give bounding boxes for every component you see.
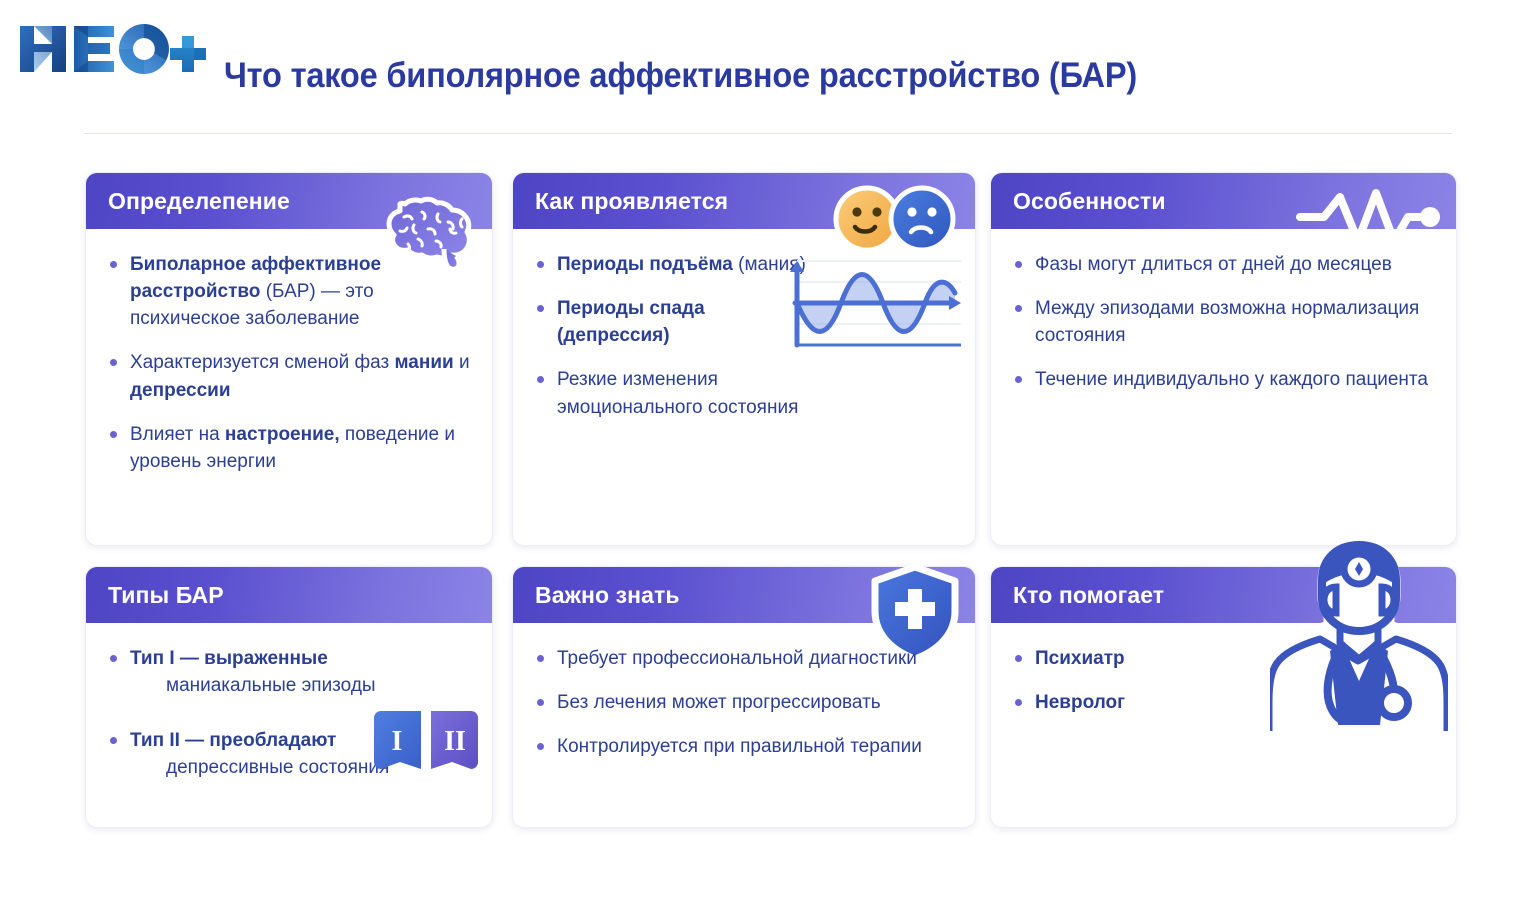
card-body-definition: Биполарное аффективное расстройство (БАР… (86, 229, 492, 493)
card-manifestation[interactable]: Как проявляется (512, 172, 976, 546)
neo-plus-logo (16, 20, 208, 78)
bullet-subtext: маниакальные эпизоды (130, 672, 408, 699)
list-item: Течение индивидуально у каждого пациента (1013, 366, 1436, 393)
card-header-definition: Определепение (86, 173, 492, 229)
bullet-text: Течение индивидуально у каждого пациента (1035, 369, 1428, 390)
card-body-who-helps: Психиатр Невролог (991, 623, 1456, 734)
card-header-who-helps: Кто помогает (991, 567, 1456, 623)
page-title: Что такое биполярное аффективное расстро… (224, 56, 1137, 96)
list-item: Контролируется при правильной терапии (535, 733, 955, 760)
card-header-features: Особенности (991, 173, 1456, 229)
card-types[interactable]: Типы БАР Тип I — выраженные маниакальные… (85, 566, 493, 828)
card-title: Важно знать (535, 582, 680, 609)
list-item: Психиатр (1013, 645, 1253, 672)
bullet-text: Контролируется при правильной терапии (557, 736, 922, 757)
bullet-list: Фазы могут длиться от дней до месяцев Ме… (1013, 251, 1436, 394)
title-divider (84, 133, 1452, 134)
card-important[interactable]: Важно знать Требует профессиональной диа… (512, 566, 976, 828)
bullet-text: Влияет на (130, 424, 225, 445)
card-header-important: Важно знать (513, 567, 975, 623)
bullet-list: Биполарное аффективное расстройство (БАР… (108, 251, 472, 475)
card-header-manifestation: Как проявляется (513, 173, 975, 229)
list-item: Без лечения может прогрессировать (535, 689, 955, 716)
card-header-types: Типы БАР (86, 567, 492, 623)
card-features[interactable]: Особенности Фазы могут длиться от дней д… (990, 172, 1457, 546)
bullet-text: и (454, 352, 470, 373)
bullet-text-strong: Тип I — выраженные (130, 648, 328, 669)
bullet-list: Периоды подъёма (мания) Периоды спада (д… (535, 251, 815, 421)
bullet-list: Тип I — выраженные маниакальные эпизоды … (108, 645, 408, 782)
bullet-list: Требует профессиональной диагностики Без… (535, 645, 955, 760)
bullet-text-strong: депрессии (130, 380, 231, 401)
bullet-text: Характеризуется сменой фаз (130, 352, 394, 373)
page-header: Что такое биполярное аффективное расстро… (0, 0, 1536, 134)
bullet-text: Резкие изменения эмоционального состояни… (557, 369, 798, 417)
card-body-important: Требует профессиональной диагностики Без… (513, 623, 975, 778)
bullet-list: Психиатр Невролог (1013, 645, 1253, 716)
list-item: Тип II — преобладают депрессивные состоя… (108, 727, 408, 781)
list-item: Периоды подъёма (мания) (535, 251, 815, 278)
type-badges-icon: I II (370, 710, 482, 778)
mood-wave-chart-icon (775, 249, 967, 353)
card-body-manifestation: Периоды подъёма (мания) Периоды спада (д… (513, 229, 975, 439)
bullet-text-strong: Психиатр (1035, 648, 1125, 669)
bullet-text: Требует профессиональной диагностики (557, 648, 917, 669)
bullet-text-strong: Тип II — преобладают (130, 730, 336, 751)
list-item: Между эпизодами возможна нормализация со… (1013, 295, 1436, 349)
card-title: Определепение (108, 188, 290, 215)
card-title: Типы БАР (108, 582, 224, 609)
card-title: Особенности (1013, 188, 1166, 215)
card-title: Кто помогает (1013, 582, 1164, 609)
bullet-text-strong: Невролог (1035, 692, 1125, 713)
badge-label-two: II (444, 726, 466, 757)
card-body-features: Фазы могут длиться от дней до месяцев Ме… (991, 229, 1456, 412)
list-item: Периоды спада (депрессия) (535, 295, 815, 349)
bullet-text: Между эпизодами возможна нормализация со… (1035, 298, 1419, 346)
list-item: Невролог (1013, 689, 1253, 716)
card-title: Как проявляется (535, 188, 728, 215)
list-item: Характеризуется сменой фаз мании и депре… (108, 349, 472, 403)
list-item: Тип I — выраженные маниакальные эпизоды (108, 645, 408, 699)
list-item: Требует профессиональной диагностики (535, 645, 955, 672)
list-item: Влияет на настроение, поведение и уровен… (108, 421, 472, 475)
card-definition[interactable]: Определепение (85, 172, 493, 546)
list-item: Биполарное аффективное расстройство (БАР… (108, 251, 472, 332)
card-body-types: Тип I — выраженные маниакальные эпизоды … (86, 623, 492, 800)
list-item: Фазы могут длиться от дней до месяцев (1013, 251, 1436, 278)
bullet-text-strong: Периоды подъёма (557, 254, 733, 275)
badge-label-one: I (392, 726, 403, 757)
bullet-subtext: депрессивные состояния (130, 754, 408, 781)
bullet-text: Без лечения может прогрессировать (557, 692, 881, 713)
bullet-text-strong: Периоды спада (депрессия) (557, 298, 705, 346)
bullet-text: Фазы могут длиться от дней до месяцев (1035, 254, 1392, 275)
list-item: Резкие изменения эмоционального состояни… (535, 366, 815, 420)
card-who-helps[interactable]: Кто помогает Психиатр Невролог (990, 566, 1457, 828)
bullet-text-strong: мании (394, 352, 453, 373)
bullet-text-strong: настроение, (225, 424, 340, 445)
